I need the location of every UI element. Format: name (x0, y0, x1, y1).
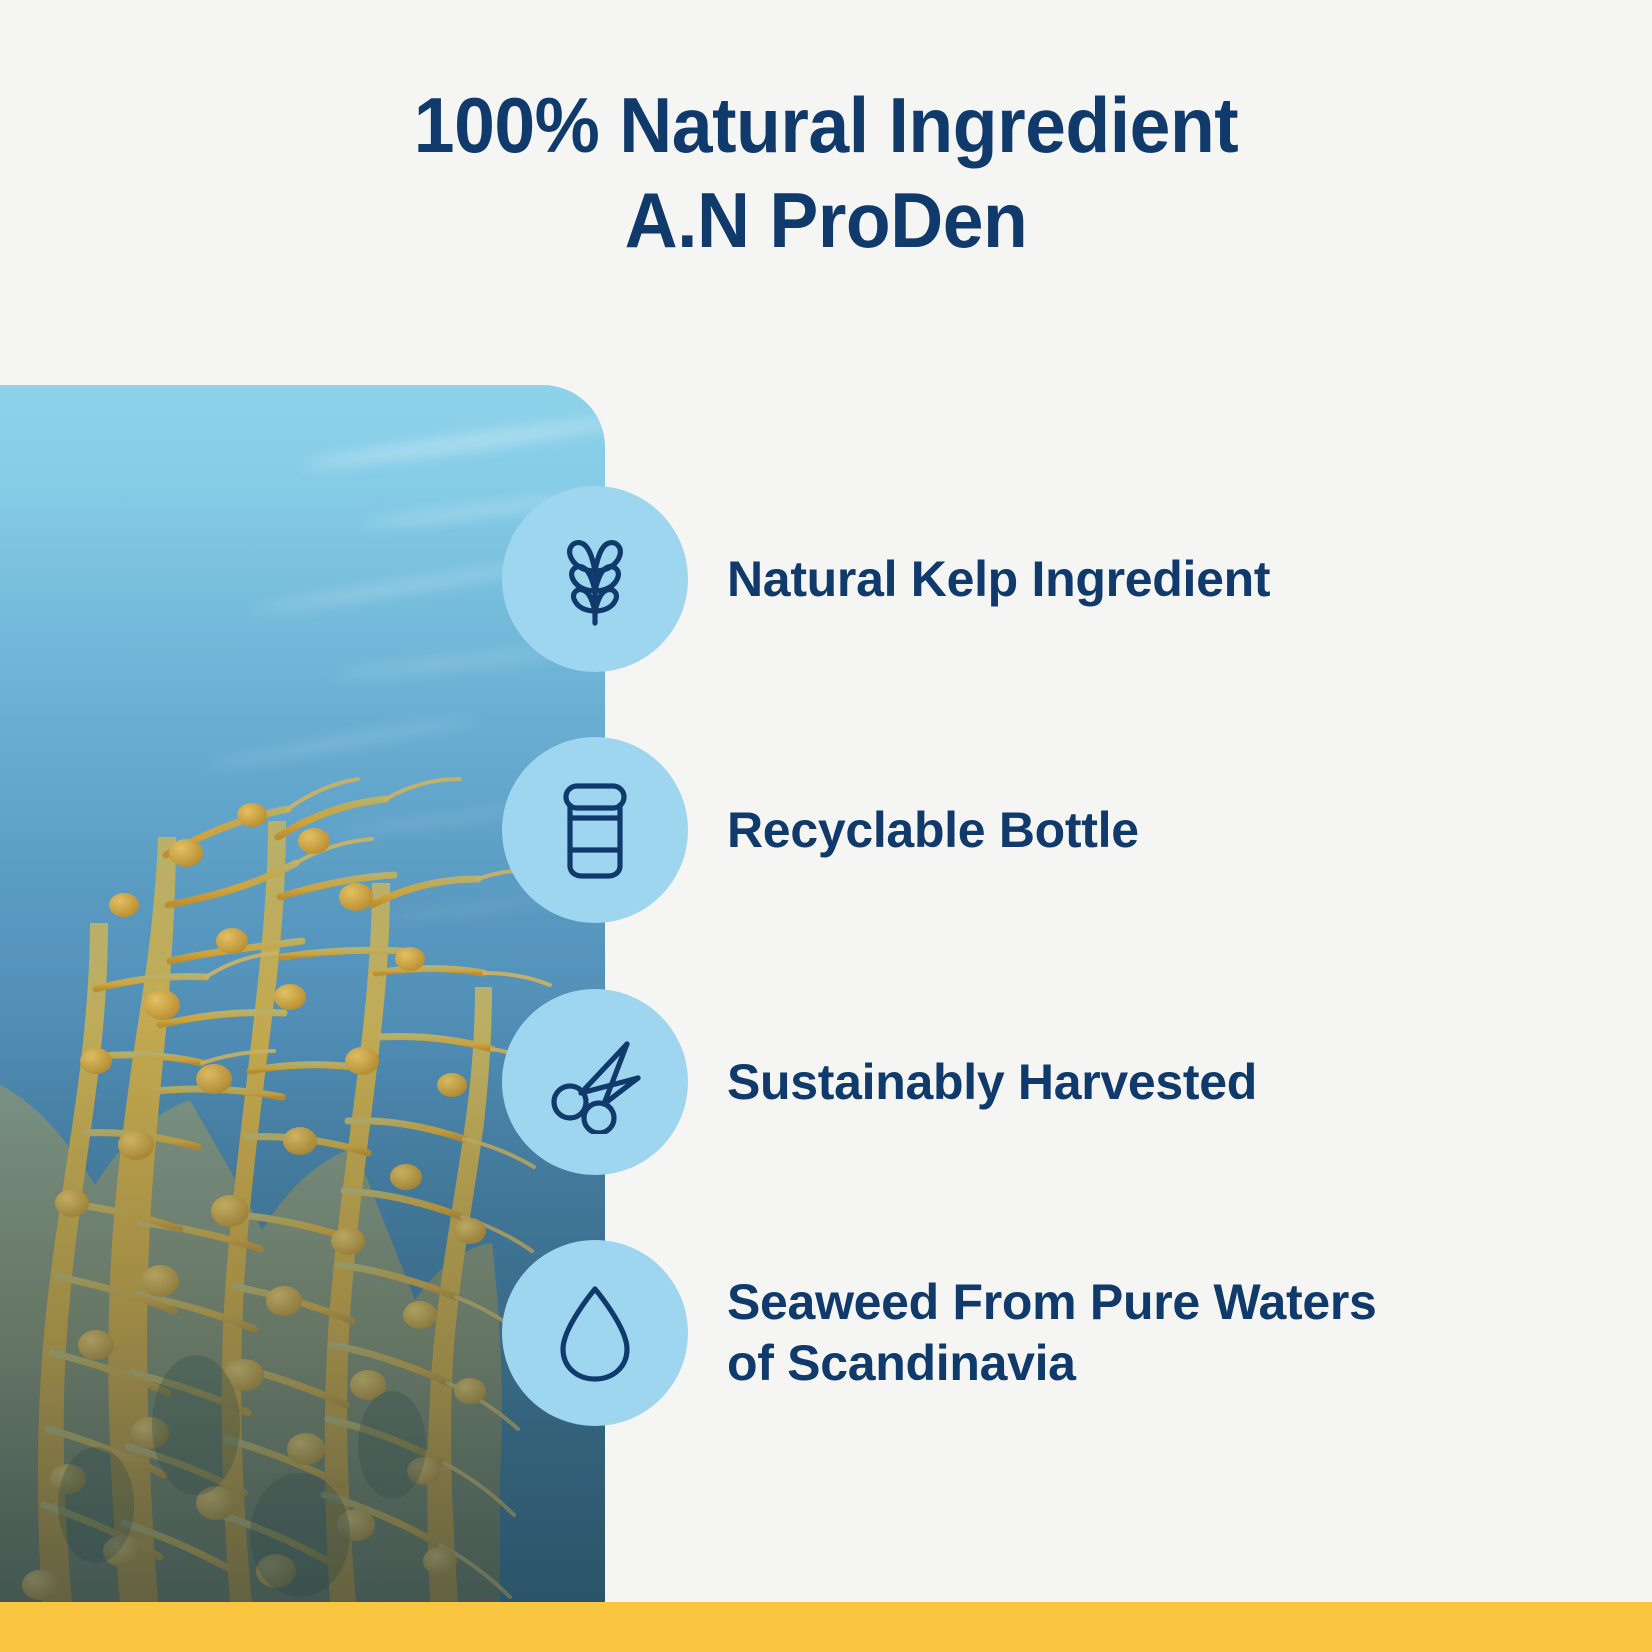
feature-icon-bubble (502, 486, 688, 672)
feature-row-natural-kelp-ingredient: Natural Kelp Ingredient (502, 486, 1270, 672)
feature-label: Seaweed From Pure Waters of Scandinavia (727, 1272, 1377, 1394)
bottom-accent-band (0, 1602, 1652, 1652)
feature-row-recyclable-bottle: Recyclable Bottle (502, 737, 1139, 923)
water-droplet-icon (553, 1281, 637, 1385)
feature-label: Recyclable Bottle (727, 800, 1139, 861)
feature-label: Sustainably Harvested (727, 1052, 1257, 1113)
infographic-canvas: 100% Natural Ingredient A.N ProDen (0, 0, 1652, 1652)
feature-icon-bubble (502, 1240, 688, 1426)
feature-label: Natural Kelp Ingredient (727, 549, 1270, 610)
kelp-frond-icon (543, 527, 647, 631)
feature-row-seaweed-pure-waters: Seaweed From Pure Waters of Scandinavia (502, 1240, 1377, 1426)
feature-list: Natural Kelp Ingredient Recyclable Bottl… (0, 0, 1652, 1652)
feature-icon-bubble (502, 737, 688, 923)
feature-row-sustainably-harvested: Sustainably Harvested (502, 989, 1257, 1175)
jar-bottle-icon (546, 778, 644, 882)
feature-icon-bubble (502, 989, 688, 1175)
scissors-icon (543, 1030, 647, 1134)
